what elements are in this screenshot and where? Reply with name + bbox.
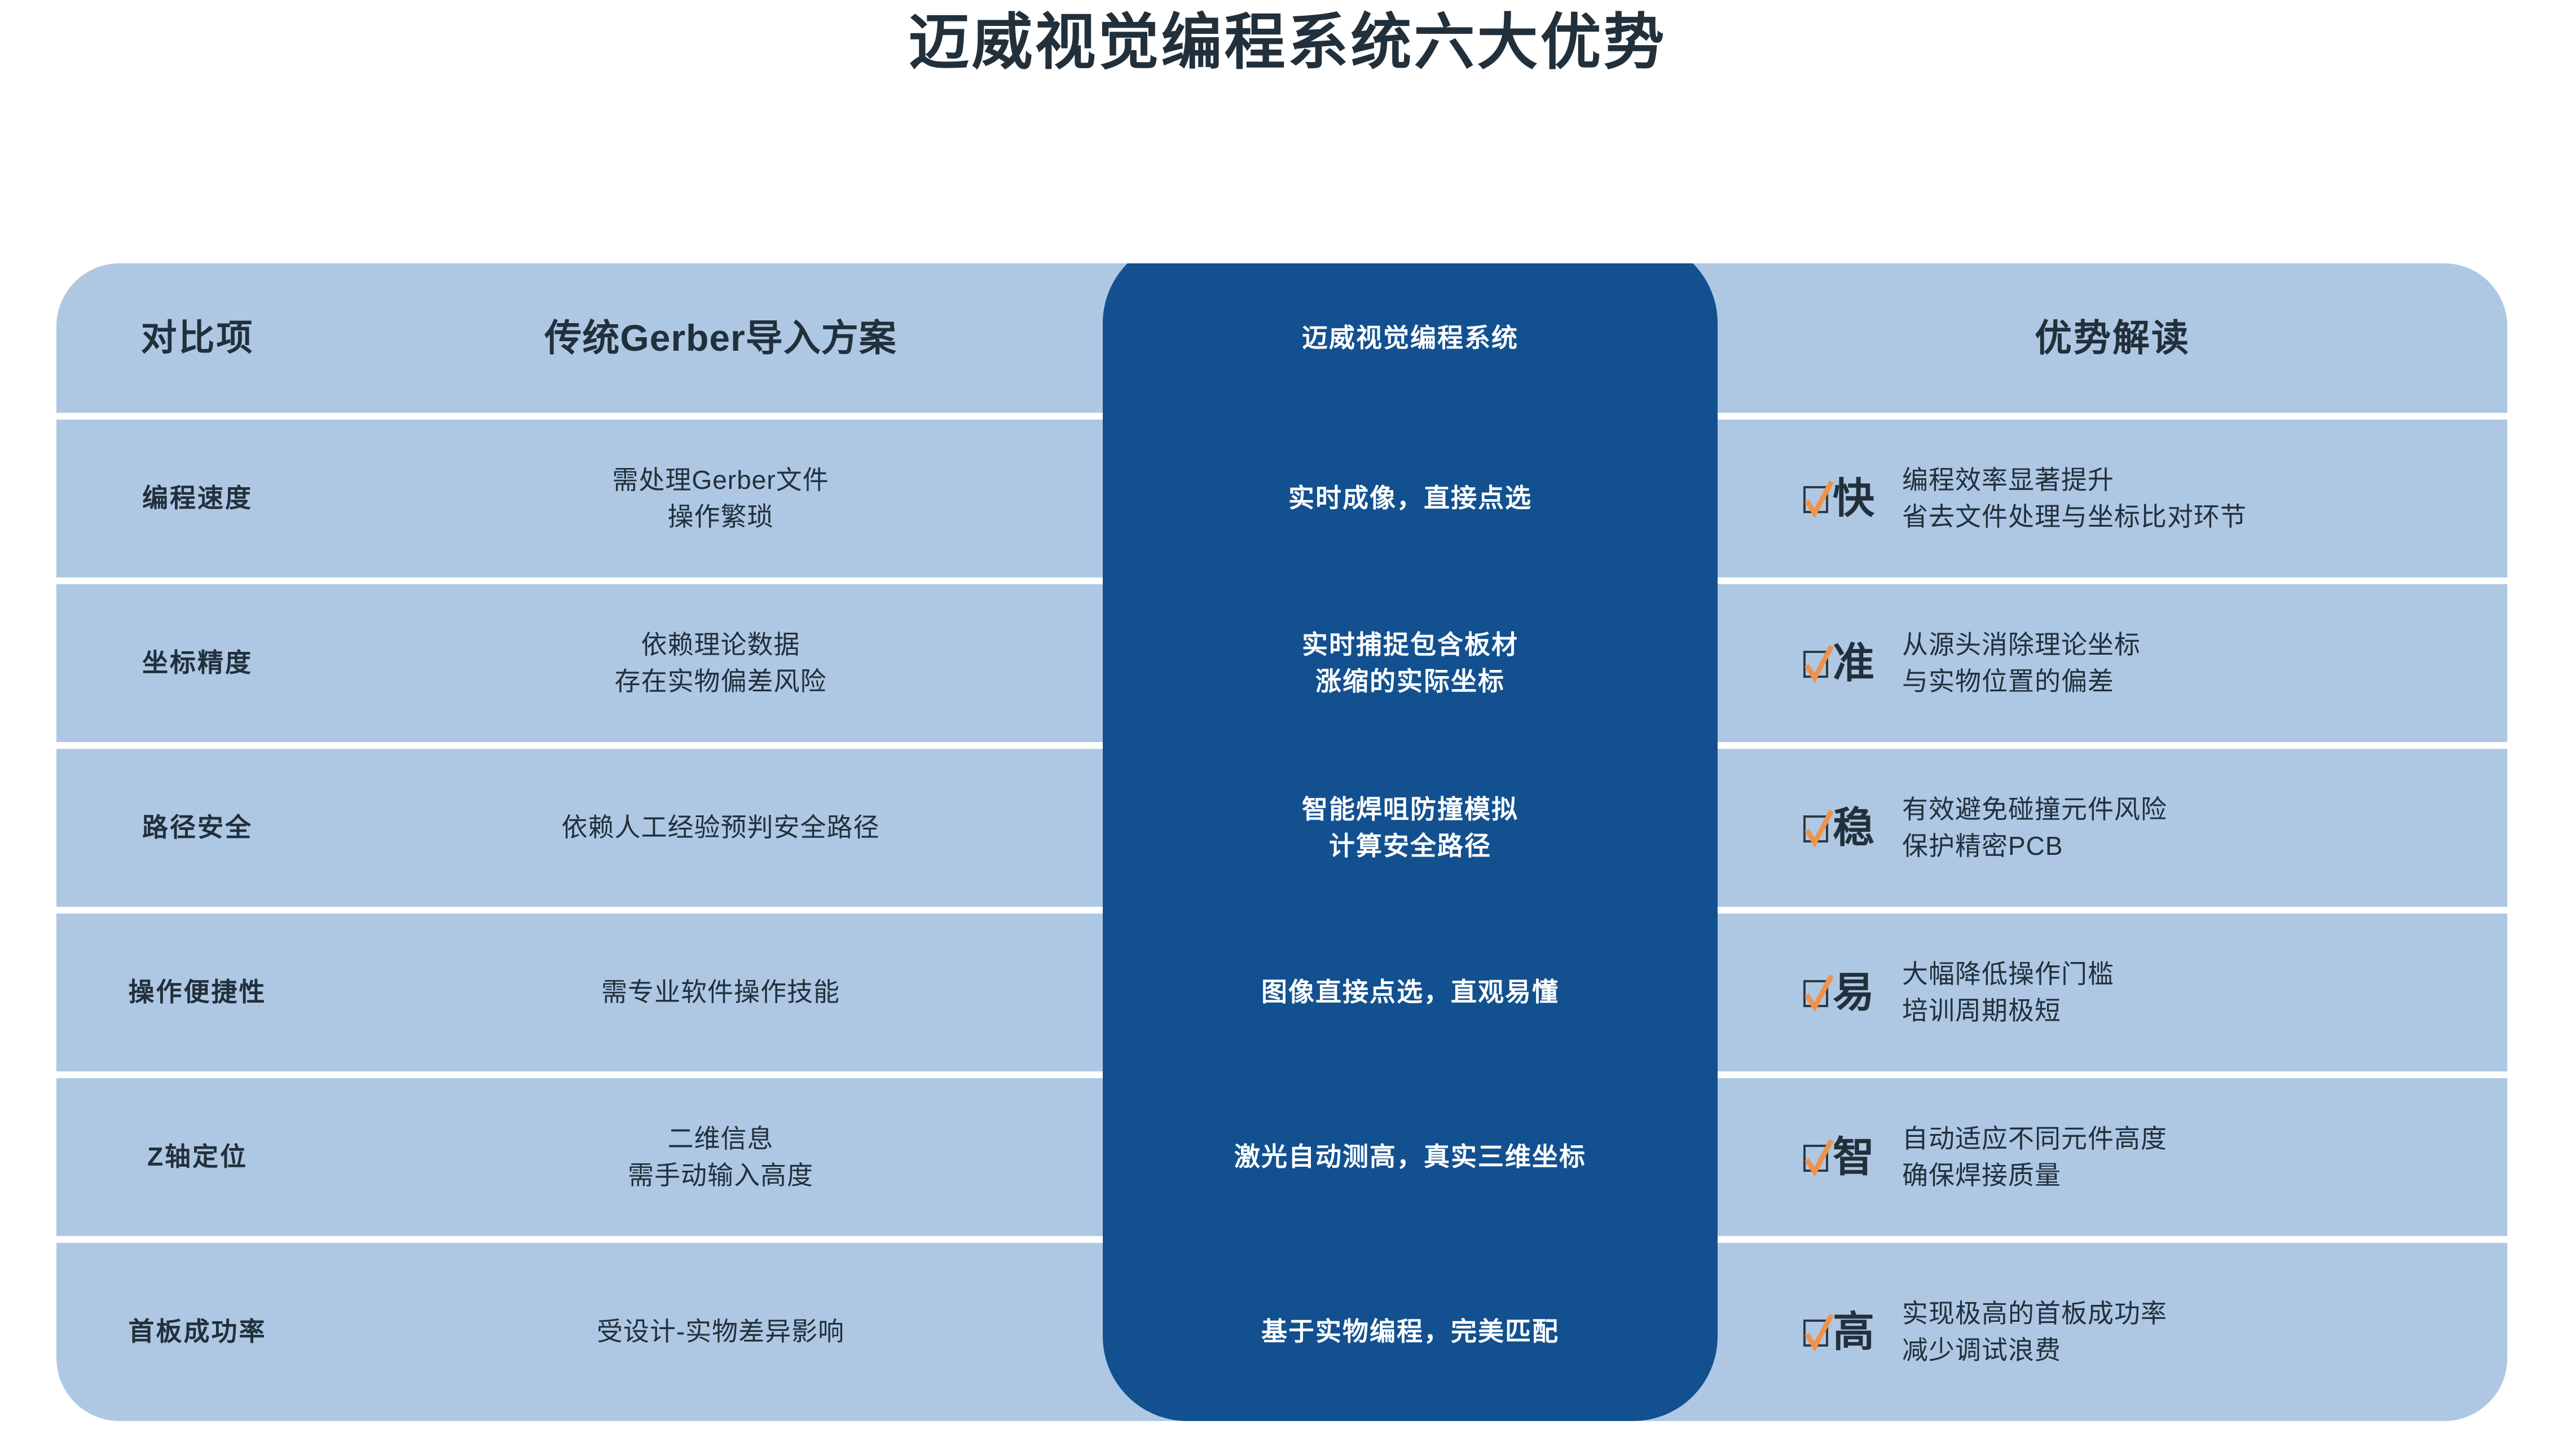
benefit-line: 从源头消除理论坐标 bbox=[1902, 626, 2141, 663]
row-benefit-cell: 智 自动适应不同元件高度 确保焊接质量 bbox=[1718, 1078, 2507, 1236]
benefit-line: 确保焊接质量 bbox=[1902, 1157, 2167, 1194]
row-item-label: Z轴定位 bbox=[56, 1078, 338, 1236]
row-item-label: 首板成功率 bbox=[56, 1243, 338, 1421]
header-label-item: 对比项 bbox=[141, 312, 254, 364]
benefit-line: 编程效率显著提升 bbox=[1902, 462, 2247, 498]
checkbox-checked-icon bbox=[1802, 1316, 1830, 1348]
benefit-description: 从源头消除理论坐标 与实物位置的偏差 bbox=[1902, 626, 2141, 700]
header-cell-legacy: 传统Gerber导入方案 bbox=[338, 263, 1103, 413]
row-legacy-cell: 二维信息 需手动输入高度 bbox=[338, 1078, 1103, 1236]
item-text: 坐标精度 bbox=[142, 645, 253, 681]
header-cell-benefit: 优势解读 bbox=[1718, 263, 2507, 413]
header-cell-item: 对比项 bbox=[56, 263, 338, 413]
legacy-line: 需专业软件操作技能 bbox=[601, 974, 840, 1011]
row-item-label: 坐标精度 bbox=[56, 584, 338, 742]
checkbox-checked-icon bbox=[1802, 1141, 1830, 1173]
benefit-key-char: 快 bbox=[1833, 469, 1875, 528]
benefit-key-char: 易 bbox=[1833, 963, 1875, 1022]
legacy-line: 需处理Gerber文件 bbox=[612, 462, 829, 498]
item-text: 编程速度 bbox=[142, 480, 253, 517]
row-benefit-cell: 快 编程效率显著提升 省去文件处理与坐标比对环节 bbox=[1718, 420, 2507, 577]
row-legacy-cell: 依赖人工经验预判安全路径 bbox=[338, 749, 1103, 907]
highlight-line: 基于实物编程，完美匹配 bbox=[1261, 1313, 1559, 1350]
benefit-key-char: 高 bbox=[1833, 1302, 1875, 1361]
row-item-label: 路径安全 bbox=[56, 749, 338, 907]
highlight-line: 图像直接点选，直观易懂 bbox=[1261, 974, 1559, 1011]
checkbox-checked-icon bbox=[1802, 483, 1830, 514]
legacy-line: 受设计-实物差异影响 bbox=[597, 1313, 844, 1350]
row-highlight-cell: 图像直接点选，直观易懂 bbox=[1103, 914, 1718, 1071]
checkbox-checked-icon bbox=[1802, 812, 1830, 844]
checkbox-checked-icon bbox=[1802, 647, 1830, 679]
benefit-key-char: 智 bbox=[1833, 1127, 1875, 1186]
header-cell-highlight: 迈威视觉编程系统 bbox=[1103, 263, 1718, 413]
legacy-line: 需手动输入高度 bbox=[628, 1157, 813, 1194]
legacy-line: 存在实物偏差风险 bbox=[615, 663, 827, 700]
item-text: Z轴定位 bbox=[147, 1139, 248, 1175]
highlight-line: 涨缩的实际坐标 bbox=[1315, 663, 1505, 700]
highlight-line: 实时捕捉包含板材 bbox=[1302, 626, 1518, 663]
benefit-line: 省去文件处理与坐标比对环节 bbox=[1902, 498, 2247, 535]
row-benefit-cell: 高 实现极高的首板成功率 减少调试浪费 bbox=[1718, 1243, 2507, 1421]
comparison-table: 对比项 传统Gerber导入方案 优势解读 编程速度 需处理Gerber文件 操… bbox=[56, 263, 2507, 1421]
row-legacy-cell: 需专业软件操作技能 bbox=[338, 914, 1103, 1071]
row-benefit-cell: 易 大幅降低操作门槛 培训周期极短 bbox=[1718, 914, 2507, 1071]
benefit-line: 培训周期极短 bbox=[1902, 992, 2114, 1029]
row-benefit-cell: 稳 有效避免碰撞元件风险 保护精密PCB bbox=[1718, 749, 2507, 907]
row-benefit-cell: 准 从源头消除理论坐标 与实物位置的偏差 bbox=[1718, 584, 2507, 742]
benefit-key-char: 稳 bbox=[1833, 798, 1875, 857]
highlight-line: 激光自动测高，真实三维坐标 bbox=[1234, 1139, 1586, 1175]
highlight-line: 实时成像，直接点选 bbox=[1288, 480, 1532, 517]
benefit-line: 减少调试浪费 bbox=[1902, 1332, 2167, 1369]
checkbox-checked-icon bbox=[1802, 977, 1830, 1008]
row-item-label: 操作便捷性 bbox=[56, 914, 338, 1071]
row-highlight-cell: 基于实物编程，完美匹配 bbox=[1103, 1243, 1718, 1421]
row-legacy-cell: 受设计-实物差异影响 bbox=[338, 1243, 1103, 1421]
benefit-description: 实现极高的首板成功率 减少调试浪费 bbox=[1902, 1295, 2167, 1369]
item-text: 操作便捷性 bbox=[129, 974, 267, 1011]
row-item-label: 编程速度 bbox=[56, 420, 338, 577]
benefit-line: 实现极高的首板成功率 bbox=[1902, 1295, 2167, 1332]
legacy-line: 二维信息 bbox=[668, 1120, 774, 1157]
row-legacy-cell: 需处理Gerber文件 操作繁琐 bbox=[338, 420, 1103, 577]
benefit-description: 自动适应不同元件高度 确保焊接质量 bbox=[1902, 1120, 2167, 1194]
page-title: 迈威视觉编程系统六大优势 bbox=[0, 0, 2575, 85]
row-highlight-cell: 智能焊咀防撞模拟 计算安全路径 bbox=[1103, 749, 1718, 907]
header-label-benefit: 优势解读 bbox=[2035, 312, 2190, 365]
header-label-highlight: 迈威视觉编程系统 bbox=[1302, 320, 1518, 356]
item-text: 首板成功率 bbox=[129, 1313, 267, 1350]
benefit-line: 自动适应不同元件高度 bbox=[1902, 1120, 2167, 1157]
benefit-description: 有效避免碰撞元件风险 保护精密PCB bbox=[1902, 791, 2167, 865]
benefit-line: 有效避免碰撞元件风险 bbox=[1902, 791, 2167, 828]
legacy-line: 依赖理论数据 bbox=[641, 626, 800, 663]
item-text: 路径安全 bbox=[142, 809, 253, 846]
row-highlight-cell: 激光自动测高，真实三维坐标 bbox=[1103, 1078, 1718, 1236]
row-highlight-cell: 实时捕捉包含板材 涨缩的实际坐标 bbox=[1103, 584, 1718, 742]
benefit-description: 编程效率显著提升 省去文件处理与坐标比对环节 bbox=[1902, 462, 2247, 536]
row-legacy-cell: 依赖理论数据 存在实物偏差风险 bbox=[338, 584, 1103, 742]
legacy-line: 依赖人工经验预判安全路径 bbox=[562, 809, 880, 846]
highlight-line: 计算安全路径 bbox=[1329, 828, 1491, 864]
row-highlight-cell: 实时成像，直接点选 bbox=[1103, 420, 1718, 577]
benefit-line: 保护精密PCB bbox=[1902, 828, 2167, 864]
benefit-line: 大幅降低操作门槛 bbox=[1902, 956, 2114, 992]
benefit-description: 大幅降低操作门槛 培训周期极短 bbox=[1902, 956, 2114, 1030]
header-label-legacy: 传统Gerber导入方案 bbox=[544, 312, 896, 365]
legacy-line: 操作繁琐 bbox=[668, 498, 774, 535]
benefit-line: 与实物位置的偏差 bbox=[1902, 663, 2141, 700]
benefit-key-char: 准 bbox=[1833, 633, 1875, 692]
highlight-line: 智能焊咀防撞模拟 bbox=[1302, 791, 1518, 828]
